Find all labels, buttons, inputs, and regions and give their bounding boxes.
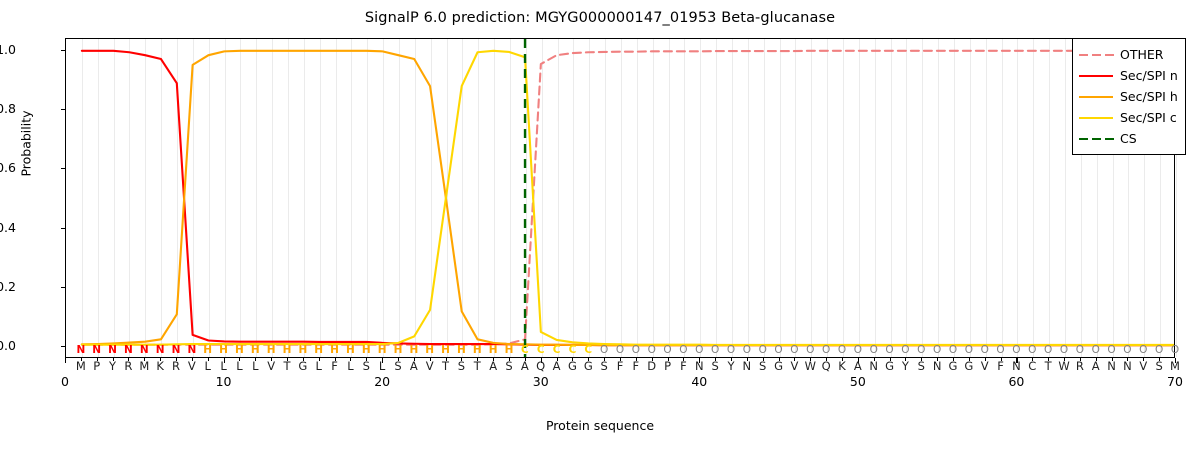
legend-swatch bbox=[1079, 70, 1113, 82]
y-tick-mark bbox=[61, 168, 66, 169]
plot-area bbox=[65, 38, 1175, 358]
y-tick-mark bbox=[61, 109, 66, 110]
sequence-track: NMNPNYNRNMNKNRNVHLHLHLHLHVHTHGHLHFHLHSHL… bbox=[65, 343, 1175, 379]
legend-item-cs[interactable]: CS bbox=[1079, 128, 1178, 149]
region-marker-o: O bbox=[1164, 343, 1186, 358]
legend-item-sec-spi-n[interactable]: Sec/SPI n bbox=[1079, 65, 1178, 86]
y-tick-label: 1.0 bbox=[0, 42, 16, 57]
legend-label: Sec/SPI h bbox=[1120, 89, 1178, 104]
legend-item-other[interactable]: OTHER bbox=[1079, 44, 1178, 65]
series-line-other bbox=[82, 51, 1174, 345]
y-axis-label: Probability bbox=[19, 74, 34, 214]
series-line-sec-spi-c bbox=[82, 51, 1174, 345]
legend-swatch bbox=[1079, 91, 1113, 103]
chart-title: SignalP 6.0 prediction: MGYG000000147_01… bbox=[0, 10, 1200, 26]
y-tick-mark bbox=[61, 50, 66, 51]
legend-swatch bbox=[1079, 49, 1113, 61]
legend-item-sec-spi-c[interactable]: Sec/SPI c bbox=[1079, 107, 1178, 128]
signalp-prediction-figure: SignalP 6.0 prediction: MGYG000000147_01… bbox=[0, 0, 1200, 450]
y-tick-label: 0.2 bbox=[0, 279, 16, 294]
series-line-sec-spi-n bbox=[82, 51, 1174, 345]
y-tick-mark bbox=[61, 228, 66, 229]
y-tick-mark bbox=[61, 287, 66, 288]
legend-label: Sec/SPI c bbox=[1120, 110, 1177, 125]
residue-letter: M bbox=[1164, 358, 1186, 375]
legend-label: CS bbox=[1120, 131, 1137, 146]
legend-label: OTHER bbox=[1120, 47, 1163, 62]
y-tick-label: 0.4 bbox=[0, 220, 16, 235]
legend-label: Sec/SPI n bbox=[1120, 68, 1178, 83]
y-tick-label: 0.6 bbox=[0, 160, 16, 175]
legend-item-sec-spi-h[interactable]: Sec/SPI h bbox=[1079, 86, 1178, 107]
y-tick-label: 0.0 bbox=[0, 338, 16, 353]
legend-swatch bbox=[1079, 133, 1113, 145]
series-line-sec-spi-h bbox=[82, 51, 1174, 345]
data-curves bbox=[66, 39, 1174, 357]
chart-legend: OTHERSec/SPI nSec/SPI hSec/SPI cCS bbox=[1072, 38, 1186, 155]
legend-swatch bbox=[1079, 112, 1113, 124]
sequence-position: OM bbox=[1164, 343, 1186, 375]
x-axis-label: Protein sequence bbox=[0, 418, 1200, 433]
y-tick-label: 0.8 bbox=[0, 101, 16, 116]
